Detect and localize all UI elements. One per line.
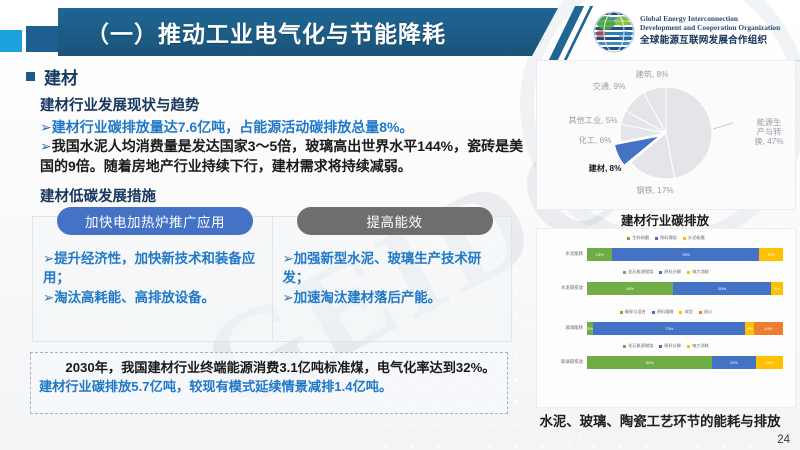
legend-entry: 电力消耗 xyxy=(687,343,709,349)
legend-swatch-icon xyxy=(620,311,623,314)
bar-group-legend: 化石能源燃烧原料分解电力消耗 xyxy=(537,269,795,275)
bar-track: 64%22%14% xyxy=(587,356,783,369)
bar-segment: 6% xyxy=(771,282,783,295)
measure-pill-electrification[interactable]: 加快电加热炉推广应用 xyxy=(57,207,253,235)
bar-segment: 22% xyxy=(712,356,755,369)
bar-track: 44%50%6% xyxy=(587,282,783,295)
bullet-point-1: ➢建材行业碳排放量达7.6亿吨，占能源活动碳排放总量8%。 xyxy=(40,118,526,137)
left-content-column: 建材 建材行业发展现状与趋势 ➢建材行业碳排放量达7.6亿吨，占能源活动碳排放总… xyxy=(26,64,526,208)
legend-label: 成型 xyxy=(684,309,692,315)
legend-swatch-icon xyxy=(627,237,630,240)
arrow-bullet-icon: ➢ xyxy=(283,290,294,305)
slide-root: GEIDCO （一）推动工业电气化与节能降耗 xyxy=(0,0,800,450)
bar-chart-caption: 水泥、玻璃、陶瓷工艺环节的能耗与排放 xyxy=(520,410,800,430)
measure-item-text: 加强新型水泥、玻璃生产技术研发； xyxy=(283,251,482,285)
header-title-bar: （一）推动工业电气化与节能降耗 xyxy=(58,8,558,56)
slide-header: （一）推动工业电气化与节能降耗 xyxy=(0,4,800,62)
bar-segment: 75% xyxy=(612,248,759,261)
globe-logo-icon xyxy=(592,10,636,54)
bar-row-label: 水泥能耗 xyxy=(537,252,587,256)
page-number: 24 xyxy=(777,434,790,446)
legend-label: 破碎与混合 xyxy=(625,309,646,315)
pie-slice-label: 交通, 9% xyxy=(593,81,626,91)
bar-group-legend: 化石能源燃烧原料分解电力消耗 xyxy=(537,343,795,349)
measure-item-text: 淘汰高耗能、高排放设备。 xyxy=(54,290,215,305)
bar-group-legend: 破碎与混合原料熔融成型退火 xyxy=(537,309,795,315)
subsection-heading-measures: 建材低碳发展措施 xyxy=(40,185,526,206)
measures-container: 加快电加热炉推广应用 ➢提升经济性，加快新技术和装备应用； ➢淘汰高耗能、高排放… xyxy=(32,216,512,340)
section-heading: 建材 xyxy=(26,64,526,89)
legend-label: 熟料煅烧 xyxy=(660,235,677,241)
bar-row-label: 玻璃能耗 xyxy=(537,326,587,330)
legend-swatch-icon xyxy=(659,345,662,348)
bar-segment: 13% xyxy=(587,248,612,261)
legend-label: 原料分解 xyxy=(664,343,681,349)
arrow-bullet-icon: ➢ xyxy=(40,138,52,154)
legend-entry: 退火 xyxy=(699,309,712,315)
legend-swatch-icon xyxy=(687,345,690,348)
arrow-bullet-icon: ➢ xyxy=(43,251,54,266)
bar-row-label: 玻璃碳排放 xyxy=(537,360,587,364)
pie-slice-label: 建筑, 8% xyxy=(636,69,669,79)
org-name-en-line2: Development and Cooperation Organization xyxy=(640,23,800,32)
bar-segment: 4% xyxy=(745,322,753,335)
pie-slice-label: 其他工业, 5% xyxy=(568,115,617,125)
arrow-bullet-icon: ➢ xyxy=(283,251,294,266)
pie-slice-label: 能源生产与转换, 47% xyxy=(754,117,783,146)
measure-pill-efficiency[interactable]: 提高能效 xyxy=(297,207,493,235)
legend-swatch-icon xyxy=(652,311,655,314)
legend-label: 原料分解 xyxy=(664,269,681,275)
measure-body-efficiency: ➢加强新型水泥、玻璃生产技术研发； ➢加速淘汰建材落后产能。 xyxy=(283,249,504,308)
bar-row: 水泥碳排放44%50%6% xyxy=(537,278,795,298)
subsection-heading-trends: 建材行业发展现状与趋势 xyxy=(40,94,526,115)
header-accent-square-light xyxy=(0,30,22,52)
legend-label: 电力消耗 xyxy=(692,269,709,275)
legend-swatch-icon xyxy=(623,271,626,274)
measure-box-electrification: 加快电加热炉推广应用 ➢提升经济性，加快新技术和装备应用； ➢淘汰高耗能、高排放… xyxy=(32,216,273,342)
legend-entry: 原料分解 xyxy=(659,343,681,349)
legend-entry: 原料熔融 xyxy=(652,309,674,315)
bar-segment: 14% xyxy=(754,322,783,335)
bar-segment: 50% xyxy=(673,282,771,295)
page-title: （一）推动工业电气化与节能降耗 xyxy=(86,15,446,49)
measure-item: ➢加速淘汰建材落后产能。 xyxy=(283,288,504,307)
bar-group-legend: 生料粉磨熟料煅烧水泥粉磨 xyxy=(537,235,795,241)
legend-swatch-icon xyxy=(687,271,690,274)
header-slash-decoration xyxy=(556,6,586,60)
org-name-cn: 全球能源互联网发展合作组织 xyxy=(640,35,800,47)
pie-chart-caption: 建材行业碳排放 xyxy=(536,210,794,229)
pie-chart-card: 能源生产与转换, 47%钢铁, 17%建材, 8%化工, 6%其他工业, 5%交… xyxy=(536,60,796,210)
pie-slice-label: 建材, 8% xyxy=(589,163,622,173)
measure-item-text: 提升经济性，加快新技术和装备应用； xyxy=(43,251,255,285)
arrow-bullet-icon: ➢ xyxy=(40,119,52,135)
callout-plain-text: 2030年，我国建材行业终端能源消费3.1亿吨标准煤，电气化率达到32%。 xyxy=(39,360,496,375)
bullet-point-2-text: 我国水泥人均消费量是发达国家3～5倍，玻璃高出世界水平144%，瓷砖是美国的9倍… xyxy=(40,138,523,173)
bar-segment: 44% xyxy=(587,282,673,295)
bullet-point-2: ➢我国水泥人均消费量是发达国家3～5倍，玻璃高出世界水平144%，瓷砖是美国的9… xyxy=(40,137,526,176)
measure-box-efficiency: 提高能效 ➢加强新型水泥、玻璃生产技术研发； ➢加速淘汰建材落后产能。 xyxy=(273,216,513,342)
org-name-en-line1: Global Energy Interconnection xyxy=(640,14,800,23)
bar-row: 玻璃能耗3%73%4%14% xyxy=(537,318,795,338)
legend-entry: 破碎与混合 xyxy=(620,309,646,315)
section-title: 建材 xyxy=(44,64,78,89)
callout-text: 2030年，我国建材行业终端能源消费3.1亿吨标准煤，电气化率达到32%。建材行… xyxy=(39,359,499,396)
legend-swatch-icon xyxy=(659,271,662,274)
measure-item: ➢加强新型水泥、玻璃生产技术研发； xyxy=(283,249,504,287)
bar-row: 玻璃碳排放64%22%14% xyxy=(537,352,795,372)
bar-chart-card: 生料粉磨熟料煅烧水泥粉磨水泥能耗13%75%12%化石能源燃烧原料分解电力消耗水… xyxy=(536,228,796,408)
legend-entry: 化石能源燃烧 xyxy=(623,343,653,349)
legend-label: 退火 xyxy=(704,309,712,315)
legend-entry: 水泥粉磨 xyxy=(683,235,705,241)
bar-track: 13%75%12% xyxy=(587,248,783,261)
legend-entry: 原料分解 xyxy=(659,269,681,275)
legend-swatch-icon xyxy=(683,237,686,240)
bar-row-label: 水泥碳排放 xyxy=(537,286,587,290)
legend-swatch-icon xyxy=(679,311,682,314)
legend-entry: 熟料煅烧 xyxy=(655,235,677,241)
legend-entry: 化石能源燃烧 xyxy=(623,269,653,275)
measure-item-text: 加速淘汰建材落后产能。 xyxy=(294,290,441,305)
legend-label: 生料粉磨 xyxy=(632,235,649,241)
callout-highlight-text: 建材行业碳排放5.7亿吨，较现有模式延续情景减排1.4亿吨。 xyxy=(39,379,392,394)
measure-item: ➢淘汰高耗能、高排放设备。 xyxy=(43,288,264,307)
bullet-point-1-text: 建材行业碳排放量达7.6亿吨，占能源活动碳排放总量8%。 xyxy=(52,119,414,135)
legend-label: 水泥粉磨 xyxy=(688,235,705,241)
pie-slice-label: 钢铁, 17% xyxy=(636,185,673,195)
organization-name: Global Energy Interconnection Developmen… xyxy=(640,14,800,46)
measure-body-electrification: ➢提升经济性，加快新技术和装备应用； ➢淘汰高耗能、高排放设备。 xyxy=(43,249,264,308)
legend-entry: 成型 xyxy=(679,309,692,315)
legend-entry: 生料粉磨 xyxy=(627,235,649,241)
legend-entry: 电力消耗 xyxy=(687,269,709,275)
pie-leader-line xyxy=(713,123,733,129)
legend-swatch-icon xyxy=(699,311,702,314)
measure-item: ➢提升经济性，加快新技术和装备应用； xyxy=(43,249,264,287)
bar-segment: 12% xyxy=(759,248,783,261)
summary-callout: 2030年，我国建材行业终端能源消费3.1亿吨标准煤，电气化率达到32%。建材行… xyxy=(30,352,508,414)
bar-track: 3%73%4%14% xyxy=(587,322,783,335)
pie-slice-label: 化工, 6% xyxy=(579,135,612,145)
bar-segment: 64% xyxy=(587,356,712,369)
legend-label: 化石能源燃烧 xyxy=(628,269,653,275)
square-bullet-icon xyxy=(26,72,35,81)
bar-chart: 生料粉磨熟料煅烧水泥粉磨水泥能耗13%75%12%化石能源燃烧原料分解电力消耗水… xyxy=(537,229,795,407)
pie-slice xyxy=(666,87,712,178)
bar-segment: 73% xyxy=(593,322,745,335)
bar-row: 水泥能耗13%75%12% xyxy=(537,244,795,264)
pie-chart: 能源生产与转换, 47%钢铁, 17%建材, 8%化工, 6%其他工业, 5%交… xyxy=(537,61,795,209)
legend-label: 电力消耗 xyxy=(692,343,709,349)
legend-swatch-icon xyxy=(623,345,626,348)
legend-label: 化石能源燃烧 xyxy=(628,343,653,349)
arrow-bullet-icon: ➢ xyxy=(43,290,54,305)
legend-label: 原料熔融 xyxy=(657,309,674,315)
bar-segment: 14% xyxy=(756,356,783,369)
legend-swatch-icon xyxy=(655,237,658,240)
